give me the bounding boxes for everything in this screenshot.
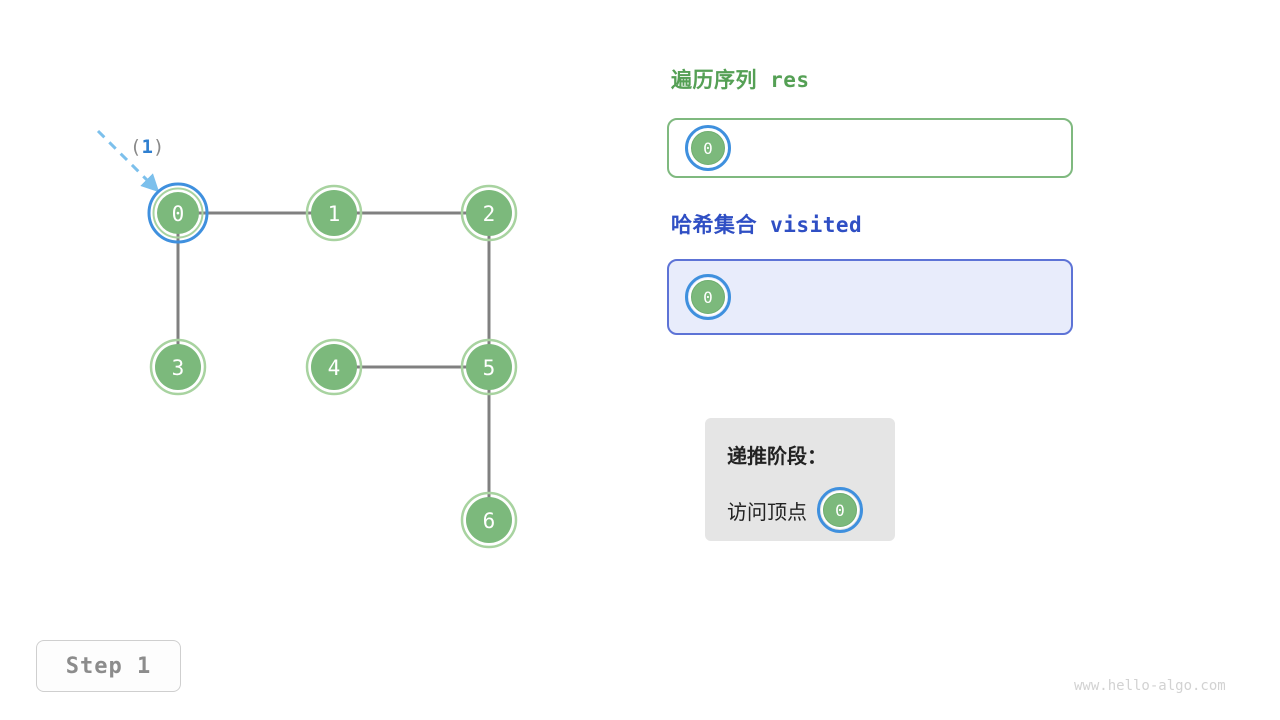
phase-info-row: 访问顶点 0 bbox=[727, 487, 871, 533]
visited-container[interactable]: 0 bbox=[667, 259, 1073, 335]
node-3-label: 3 bbox=[172, 356, 185, 380]
node-5-label: 5 bbox=[483, 356, 496, 380]
phase-info-node-label: 0 bbox=[823, 493, 857, 527]
visit-order-close-paren: ) bbox=[153, 136, 164, 158]
res-container[interactable]: 0 bbox=[667, 118, 1073, 178]
visited-item-0-label: 0 bbox=[691, 280, 725, 314]
graph-node-1[interactable]: 1 bbox=[307, 186, 361, 240]
node-2-label: 2 bbox=[483, 202, 496, 226]
res-item-0[interactable]: 0 bbox=[685, 125, 731, 171]
graph-node-3[interactable]: 3 bbox=[151, 340, 205, 394]
visited-heading: 哈希集合 visited bbox=[671, 209, 862, 239]
node-0-label: 0 bbox=[172, 202, 185, 226]
graph-node-4[interactable]: 4 bbox=[307, 340, 361, 394]
phase-info-title: 递推阶段： bbox=[727, 440, 871, 469]
visit-order-number: 1 bbox=[141, 136, 152, 158]
watermark: www.hello-algo.com bbox=[1074, 678, 1226, 694]
graph-diagram: 0 1 2 3 4 5 6 bbox=[0, 0, 640, 640]
graph-node-2[interactable]: 2 bbox=[462, 186, 516, 240]
phase-info-box: 递推阶段： 访问顶点 0 bbox=[705, 418, 895, 541]
slide-canvas: 0 1 2 3 4 5 6 bbox=[0, 0, 1280, 720]
node-6-label: 6 bbox=[483, 509, 496, 533]
node-4-label: 4 bbox=[328, 356, 341, 380]
phase-info-node: 0 bbox=[817, 487, 863, 533]
graph-node-6[interactable]: 6 bbox=[462, 493, 516, 547]
res-item-0-label: 0 bbox=[691, 131, 725, 165]
step-badge[interactable]: Step 1 bbox=[36, 640, 181, 692]
graph-node-0[interactable]: 0 bbox=[149, 184, 207, 242]
res-heading: 遍历序列 res bbox=[671, 64, 810, 94]
graph-node-5[interactable]: 5 bbox=[462, 340, 516, 394]
phase-info-row-text: 访问顶点 bbox=[727, 496, 807, 525]
visited-item-0[interactable]: 0 bbox=[685, 274, 731, 320]
visit-order-open-paren: ( bbox=[130, 136, 141, 158]
visit-order-label: (1) bbox=[130, 136, 164, 158]
node-1-label: 1 bbox=[328, 202, 341, 226]
